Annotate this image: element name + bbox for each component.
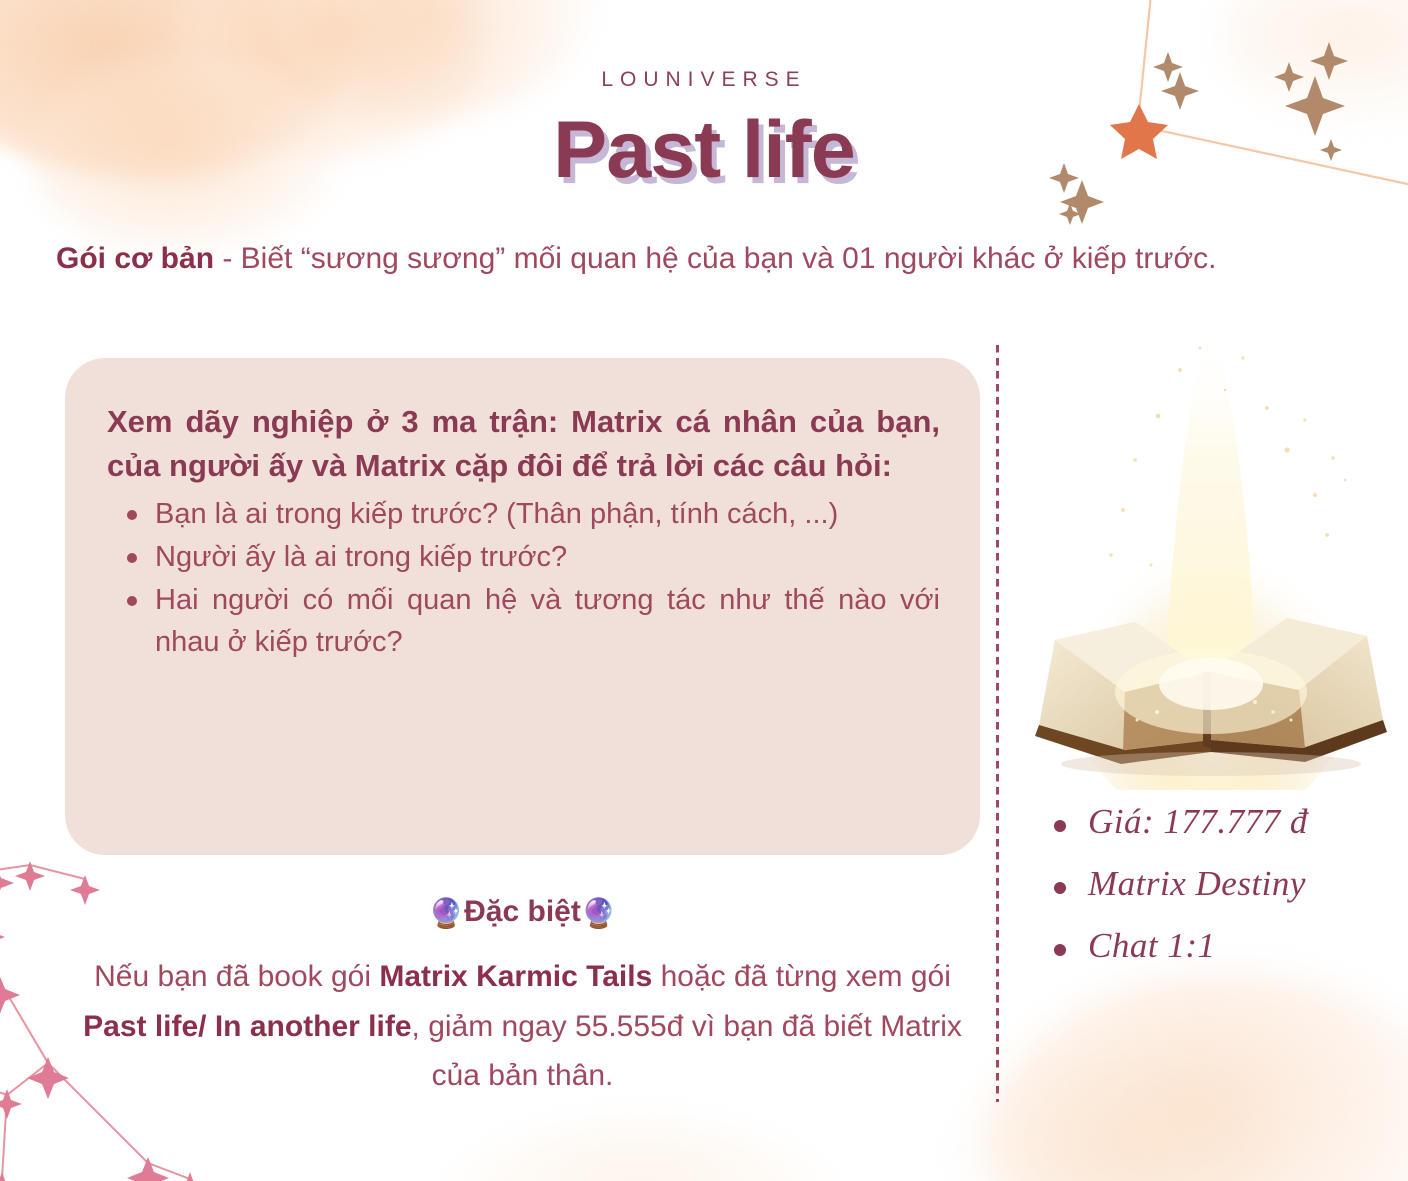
list-item: Người ấy là ai trong kiếp trước? (155, 537, 940, 578)
sidebar-item-chat: Chat 1:1 (1046, 924, 1386, 968)
list-item: Bạn là ai trong kiếp trước? (Thân phận, … (155, 494, 940, 535)
special-package-2: Past life/ In another life (83, 1010, 411, 1043)
brand-name: LOUNIVERSE (0, 68, 1408, 92)
special-text-1: Nếu bạn đã book gói (94, 960, 379, 993)
special-label: Đặc biệt (464, 895, 581, 928)
poster-canvas: LOUNIVERSE Past life Gói cơ bản - Biết “… (0, 0, 1408, 1181)
sidebar-item-price: Giá: 177.777 đ (1046, 800, 1386, 844)
sidebar-info-list: Giá: 177.777 đ Matrix Destiny Chat 1:1 (1046, 800, 1386, 985)
card-heading: Xem dãy nghiệp ở 3 ma trận: Matrix cá nh… (107, 400, 940, 488)
list-item: Hai người có mối quan hệ và tương tác nh… (155, 580, 940, 662)
crystal-ball-icon-right: 🔮 (581, 898, 617, 930)
special-heading: 🔮Đặc biệt🔮 (65, 895, 980, 931)
special-package-1: Matrix Karmic Tails (379, 960, 652, 993)
crystal-ball-icon-left: 🔮 (428, 898, 464, 930)
magic-book-illustration (1015, 320, 1408, 790)
special-text-2: hoặc đã từng xem gói (652, 960, 951, 993)
watercolor-blob-top-left-4 (265, 0, 595, 120)
content-card: Xem dãy nghiệp ở 3 ma trận: Matrix cá nh… (65, 358, 980, 855)
page-title: Past life (0, 106, 1408, 195)
tagline: Gói cơ bản - Biết “sương sương” mối quan… (56, 240, 1382, 278)
watercolor-blob-bottom-center (430, 1121, 850, 1181)
tagline-rest: - Biết “sương sương” mối quan hệ của bạn… (214, 242, 1216, 275)
watercolor-blob-bottom-right-1 (988, 971, 1408, 1181)
sidebar-item-matrix-destiny: Matrix Destiny (1046, 862, 1386, 906)
special-text-3: , giảm ngay 55.555đ vì bạn đã biết Matri… (412, 1010, 962, 1093)
vertical-divider (996, 345, 999, 1102)
special-body: Nếu bạn đã book gói Matrix Karmic Tails … (70, 952, 975, 1101)
question-list: Bạn là ai trong kiếp trước? (Thân phận, … (107, 494, 940, 663)
tagline-bold: Gói cơ bản (56, 242, 214, 275)
